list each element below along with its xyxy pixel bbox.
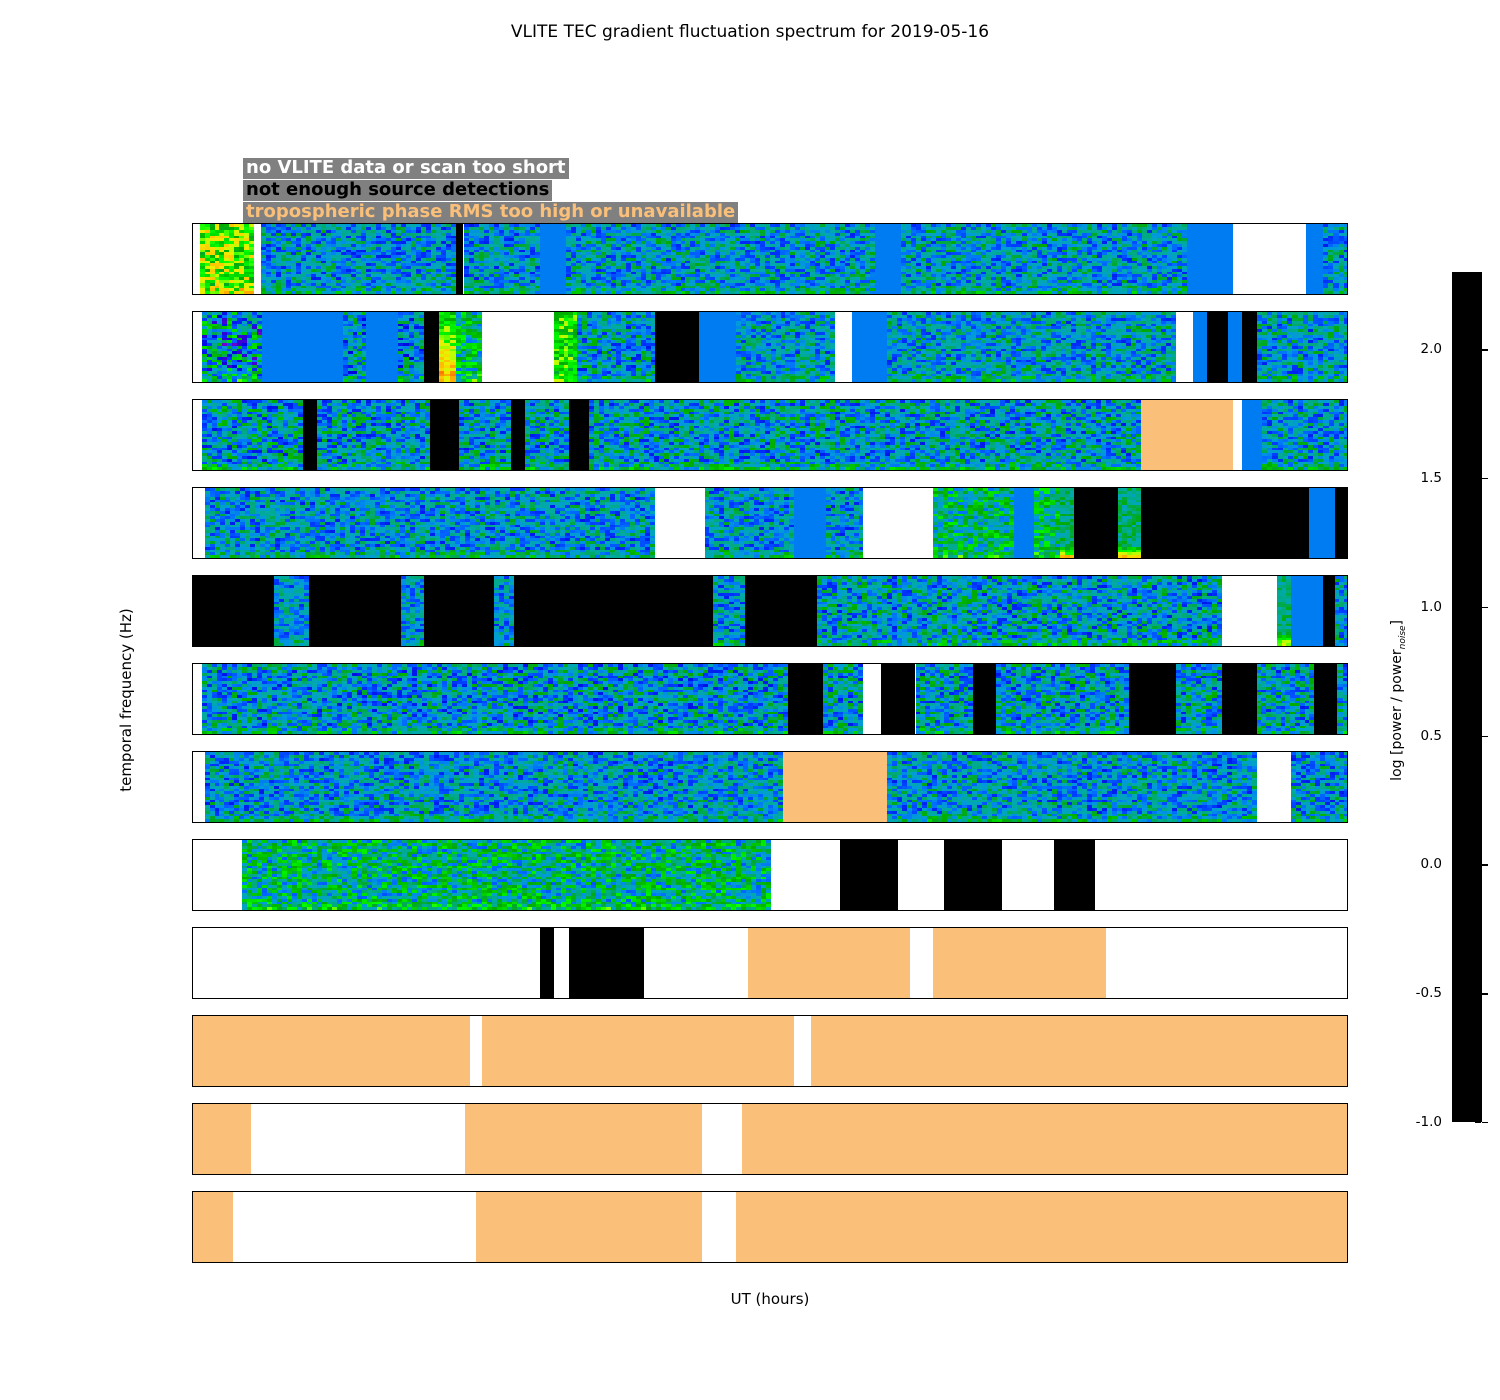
segment-no-data (1002, 840, 1054, 910)
colorbar-tick-mark-inner (1475, 607, 1481, 608)
segment-uniform-power (366, 312, 398, 382)
legend-item-not-enough-detections: not enough source detections (243, 180, 552, 201)
segment-not-enough-detections (1141, 488, 1309, 558)
colorbar-tick-mark (1482, 478, 1488, 479)
segment-no-data (702, 1104, 742, 1174)
segment-not-enough-detections (1314, 664, 1337, 734)
y-tick-mark (192, 1133, 193, 1134)
y-tick-mark (192, 766, 193, 767)
y-tick-mark (192, 341, 193, 342)
x-tick-mark (193, 1262, 194, 1263)
segment-spectrum-data (736, 312, 834, 382)
segment-not-enough-detections (973, 664, 996, 734)
x-tick-mark (482, 470, 483, 471)
x-tick-mark (1060, 558, 1061, 559)
segment-spectrum-data (205, 752, 783, 822)
segment-no-data (655, 488, 704, 558)
segment-no-data (193, 664, 202, 734)
x-tick-mark (771, 734, 772, 735)
x-tick-mark (193, 294, 194, 295)
colorbar-tick-mark (1482, 349, 1488, 350)
segment-no-data (702, 1192, 737, 1262)
y-tick-mark (192, 810, 193, 811)
colorbar-tick-label: 0.5 (1421, 728, 1442, 744)
colorbar-tick-mark (1482, 1122, 1488, 1123)
spectrogram-panel-4: 0.000.050.100.150.200.258.08.59.09.510.0 (192, 575, 1348, 647)
segment-not-enough-detections (424, 312, 438, 382)
y-tick-mark (192, 253, 193, 254)
segment-no-data (835, 312, 852, 382)
segment-not-enough-detections (1222, 664, 1257, 734)
colorbar-tick-label: 2.0 (1421, 341, 1442, 357)
segment-spectrum-data (205, 488, 656, 558)
colorbar-tick-label: 1.5 (1421, 470, 1442, 486)
x-tick-mark (193, 822, 194, 823)
segment-spectrum-data (1335, 576, 1348, 646)
x-tick-mark (1060, 734, 1061, 735)
segment-not-enough-detections (944, 840, 1002, 910)
colorbar-tick-label: -0.5 (1416, 985, 1442, 1001)
y-tick-mark (192, 414, 193, 415)
segment-no-data (193, 312, 202, 382)
segment-not-enough-detections (788, 664, 823, 734)
x-tick-mark (771, 1086, 772, 1087)
segment-no-data (794, 1016, 811, 1086)
x-tick-mark (193, 646, 194, 647)
segment-spectrum-data (439, 312, 456, 382)
segment-no-data (193, 752, 205, 822)
x-tick-mark (1060, 998, 1061, 999)
y-tick-mark (192, 1074, 193, 1075)
y-tick-mark (192, 957, 193, 958)
segment-spectrum-data (566, 224, 875, 294)
segment-no-data (193, 400, 202, 470)
spectrogram-canvas (193, 840, 1347, 910)
segment-not-enough-detections (655, 312, 698, 382)
segment-spectrum-data (401, 576, 424, 646)
segment-troposphere-bad (742, 1104, 1348, 1174)
segment-uniform-power (540, 224, 566, 294)
x-tick-mark (482, 558, 483, 559)
segment-not-enough-detections (569, 400, 589, 470)
spectrogram-panel-6: 0.000.050.100.150.200.2512.012.513.013.5… (192, 751, 1348, 823)
colorbar-tick-mark-inner (1475, 736, 1481, 737)
x-tick-mark (1060, 294, 1061, 295)
segment-spectrum-data (1323, 224, 1348, 294)
x-tick-mark (771, 294, 772, 295)
segment-spectrum-data (933, 488, 1014, 558)
segment-spectrum-data (1118, 488, 1141, 558)
segment-spectrum-data (996, 664, 1129, 734)
x-tick-mark (193, 734, 194, 735)
colorbar-tick-mark (1482, 736, 1488, 737)
y-tick-mark (192, 238, 193, 239)
segment-spectrum-data (1060, 488, 1074, 558)
segment-not-enough-detections (569, 928, 644, 998)
segment-spectrum-data (525, 400, 568, 470)
y-tick-mark (192, 443, 193, 444)
segment-spectrum-data (459, 400, 511, 470)
y-tick-mark (192, 869, 193, 870)
spectrogram-panel-8: 0.000.050.100.150.200.2516.016.517.017.5… (192, 927, 1348, 999)
y-tick-mark (192, 854, 193, 855)
spectrogram-canvas (193, 1104, 1347, 1174)
x-tick-mark (482, 1262, 483, 1263)
colorbar-tick-mark (1482, 864, 1488, 865)
segment-not-enough-detections (1054, 840, 1094, 910)
segment-spectrum-data (202, 312, 263, 382)
segment-spectrum-data (887, 312, 1176, 382)
y-axis-label: temporal frequency (Hz) (112, 0, 140, 1400)
segment-troposphere-bad (193, 1016, 470, 1086)
segment-not-enough-detections (1323, 576, 1335, 646)
colorbar-tick-mark-inner (1475, 349, 1481, 350)
segment-spectrum-data (901, 224, 1187, 294)
colorbar-tick-mark-inner (1475, 1122, 1481, 1123)
x-tick-mark (771, 1262, 772, 1263)
colorbar-tick-mark-inner (1475, 478, 1481, 479)
y-tick-mark (192, 795, 193, 796)
spectrogram-panel-3: 0.000.050.100.150.200.256.06.57.07.58.0 (192, 487, 1348, 559)
segment-troposphere-bad (933, 928, 1106, 998)
x-tick-mark (771, 470, 772, 471)
y-tick-mark (192, 942, 193, 943)
segment-spectrum-data (261, 224, 456, 294)
segment-no-data (554, 928, 568, 998)
segment-troposphere-bad (482, 1016, 794, 1086)
segment-not-enough-detections (456, 224, 464, 294)
x-tick-mark (482, 910, 483, 911)
spectrogram-canvas (193, 664, 1347, 734)
segment-troposphere-bad (811, 1016, 1348, 1086)
segment-spectrum-data (1257, 312, 1348, 382)
segment-troposphere-bad (465, 1104, 702, 1174)
figure-root: VLITE TEC gradient fluctuation spectrum … (0, 0, 1500, 1400)
spectrogram-panel-10: 0.000.050.100.150.200.2520.020.521.021.5… (192, 1103, 1348, 1175)
segment-uniform-power (1228, 312, 1242, 382)
y-tick-mark (192, 619, 193, 620)
segment-not-enough-detections (193, 576, 274, 646)
segment-uniform-power (699, 312, 737, 382)
segment-no-data (482, 312, 554, 382)
segment-no-data (863, 664, 880, 734)
spectrogram-canvas (193, 928, 1347, 998)
segment-troposphere-bad (476, 1192, 701, 1262)
colorbar-tick-mark-inner (1475, 993, 1481, 994)
y-tick-mark (192, 1118, 193, 1119)
x-tick-mark (1060, 646, 1061, 647)
y-tick-mark (192, 1045, 193, 1046)
spectrogram-panel-2: 0.000.050.100.150.200.254.04.55.05.56.0 (192, 399, 1348, 471)
segment-uniform-power (1014, 488, 1034, 558)
segment-not-enough-detections (514, 576, 713, 646)
segment-no-data (1176, 312, 1193, 382)
segment-no-data (251, 1104, 465, 1174)
x-tick-mark (771, 910, 772, 911)
segment-spectrum-data (713, 576, 745, 646)
colorbar-tick-mark (1482, 993, 1488, 994)
segment-spectrum-data (494, 576, 514, 646)
colorbar-title: log [power / powernoise] (1386, 0, 1410, 1400)
segment-not-enough-detections (430, 400, 459, 470)
segment-spectrum-data (343, 312, 366, 382)
segment-no-data (1233, 224, 1305, 294)
segment-not-enough-detections (745, 576, 817, 646)
segment-no-data (193, 928, 540, 998)
y-tick-mark (192, 883, 193, 884)
spectrogram-panel-0: 0.000.050.100.150.200.250.00.51.01.52.0 (192, 223, 1348, 295)
segment-uniform-power (1193, 312, 1207, 382)
x-tick-mark (771, 558, 772, 559)
segment-spectrum-data (1337, 664, 1348, 734)
page-title: VLITE TEC gradient fluctuation spectrum … (0, 22, 1500, 42)
y-tick-mark (192, 678, 193, 679)
y-tick-mark (192, 898, 193, 899)
segment-troposphere-bad (1141, 400, 1233, 470)
segment-spectrum-data (1277, 576, 1291, 646)
y-tick-mark (192, 267, 193, 268)
segment-uniform-power (1306, 224, 1323, 294)
x-tick-mark (1060, 470, 1061, 471)
segment-no-data (193, 488, 205, 558)
y-tick-mark (192, 517, 193, 518)
y-tick-mark (192, 781, 193, 782)
segment-no-data (470, 1016, 482, 1086)
colorbar-tick-label: 1.0 (1421, 599, 1442, 615)
x-axis-label: UT (hours) (192, 1290, 1348, 1308)
y-tick-mark (192, 546, 193, 547)
x-tick-mark (482, 822, 483, 823)
segment-no-data (1106, 928, 1348, 998)
segment-spectrum-data (1257, 664, 1315, 734)
segment-troposphere-bad (783, 752, 887, 822)
y-tick-mark (192, 1147, 193, 1148)
segment-spectrum-data (1034, 488, 1060, 558)
spectrogram-canvas (193, 488, 1347, 558)
segment-no-data (910, 928, 933, 998)
y-tick-mark (192, 1250, 193, 1251)
segment-no-data (193, 224, 200, 294)
y-tick-mark (192, 1162, 193, 1163)
y-tick-mark (192, 1206, 193, 1207)
segment-not-enough-detections (303, 400, 317, 470)
x-tick-mark (193, 910, 194, 911)
colorbar-tick-label: 0.0 (1421, 856, 1442, 872)
y-tick-mark (192, 1059, 193, 1060)
x-tick-mark (771, 822, 772, 823)
segment-no-data (863, 488, 932, 558)
spectrogram-canvas (193, 312, 1347, 382)
spectrogram-panel-9: 0.000.050.100.150.200.2518.018.519.019.5… (192, 1015, 1348, 1087)
y-tick-mark (192, 1235, 193, 1236)
x-tick-mark (193, 1174, 194, 1175)
x-tick-mark (482, 1086, 483, 1087)
colorbar-tick-mark-inner (1475, 864, 1481, 865)
x-tick-mark (771, 998, 772, 999)
spectrogram-canvas (193, 224, 1347, 294)
segment-not-enough-detections (540, 928, 554, 998)
spectrogram-canvas (193, 400, 1347, 470)
segment-not-enough-detections (1335, 488, 1348, 558)
segment-not-enough-detections (840, 840, 898, 910)
x-tick-mark (482, 294, 483, 295)
spectrogram-panel-1: 0.000.050.100.150.200.252.02.53.03.54.0 (192, 311, 1348, 383)
segment-not-enough-detections (309, 576, 401, 646)
segment-no-data (1233, 400, 1242, 470)
segment-no-data (1095, 840, 1348, 910)
segment-spectrum-data (577, 312, 655, 382)
segment-spectrum-data (202, 664, 789, 734)
segment-spectrum-data (705, 488, 795, 558)
y-tick-mark (192, 1030, 193, 1031)
y-tick-mark (192, 282, 193, 283)
y-tick-mark (192, 722, 193, 723)
segment-spectrum-data (398, 312, 424, 382)
colorbar-tick-label: -1.0 (1416, 1114, 1442, 1130)
x-tick-mark (771, 1174, 772, 1175)
x-tick-mark (1060, 910, 1061, 911)
segment-spectrum-data (456, 312, 482, 382)
segment-not-enough-detections (511, 400, 525, 470)
segment-troposphere-bad (748, 928, 910, 998)
segment-spectrum-data (202, 400, 303, 470)
segment-not-enough-detections (1129, 664, 1175, 734)
segment-no-data (1222, 576, 1277, 646)
spectrogram-panel-7: 0.000.050.100.150.200.2514.014.515.015.5… (192, 839, 1348, 911)
segment-not-enough-detections (1207, 312, 1227, 382)
y-tick-mark (192, 634, 193, 635)
spectrogram-panel-5: 0.000.050.100.150.200.2510.010.511.011.5… (192, 663, 1348, 735)
spectrogram-canvas (193, 1192, 1347, 1262)
y-tick-mark (192, 693, 193, 694)
y-tick-mark (192, 458, 193, 459)
y-tick-mark (192, 707, 193, 708)
segment-spectrum-data (1291, 752, 1348, 822)
segment-uniform-power (1187, 224, 1233, 294)
legend: no VLITE data or scan too short not enou… (243, 158, 738, 224)
segment-spectrum-data (817, 576, 1222, 646)
segment-not-enough-detections (1242, 312, 1256, 382)
y-tick-mark (192, 429, 193, 430)
segment-uniform-power (1291, 576, 1323, 646)
x-tick-mark (193, 1086, 194, 1087)
x-tick-mark (193, 382, 194, 383)
segment-uniform-power (852, 312, 887, 382)
legend-item-tropospheric-rms: tropospheric phase RMS too high or unava… (243, 202, 738, 223)
x-tick-mark (1060, 822, 1061, 823)
y-tick-mark (192, 971, 193, 972)
segment-not-enough-detections (881, 664, 916, 734)
x-tick-mark (193, 998, 194, 999)
segment-uniform-power (1242, 400, 1262, 470)
segment-spectrum-data (1262, 400, 1348, 470)
spectrogram-canvas (193, 752, 1347, 822)
segment-no-data (898, 840, 944, 910)
y-tick-mark (192, 531, 193, 532)
segment-no-data (644, 928, 748, 998)
x-tick-mark (482, 382, 483, 383)
segment-troposphere-bad (193, 1104, 251, 1174)
segment-troposphere-bad (193, 1192, 233, 1262)
segment-spectrum-data (554, 312, 577, 382)
y-tick-mark (192, 1221, 193, 1222)
segment-spectrum-data (200, 224, 254, 294)
y-tick-mark (192, 590, 193, 591)
segment-uniform-power (875, 224, 901, 294)
segment-uniform-power (794, 488, 826, 558)
y-tick-mark (192, 605, 193, 606)
x-tick-mark (1060, 382, 1061, 383)
x-tick-mark (482, 1174, 483, 1175)
y-axis-label-text: temporal frequency (Hz) (117, 608, 135, 792)
y-tick-mark (192, 502, 193, 503)
colorbar-over-ticks (1453, 273, 1481, 287)
segment-troposphere-bad (736, 1192, 1348, 1262)
segment-spectrum-data (242, 840, 771, 910)
segment-no-data (193, 840, 242, 910)
x-tick-mark (1060, 1174, 1061, 1175)
segment-not-enough-detections (424, 576, 493, 646)
segment-no-data (254, 224, 262, 294)
segment-spectrum-data (589, 400, 1141, 470)
y-tick-mark (192, 326, 193, 327)
spectrogram-canvas (193, 1016, 1347, 1086)
colorbar (1452, 272, 1482, 1122)
x-tick-mark (771, 382, 772, 383)
spectrogram-canvas (193, 576, 1347, 646)
x-tick-mark (1060, 1086, 1061, 1087)
segment-no-data (771, 840, 840, 910)
segment-spectrum-data (823, 664, 863, 734)
y-tick-mark (192, 986, 193, 987)
colorbar-tick-mark (1482, 607, 1488, 608)
segment-spectrum-data (464, 224, 540, 294)
segment-spectrum-data (274, 576, 309, 646)
x-tick-mark (193, 558, 194, 559)
y-tick-mark (192, 370, 193, 371)
spectrogram-panel-11: 0.000.050.100.150.200.2522.022.523.023.5… (192, 1191, 1348, 1263)
segment-spectrum-data (887, 752, 1257, 822)
colorbar-title-text: log [power / powernoise] (1389, 620, 1408, 781)
x-tick-mark (193, 470, 194, 471)
segment-spectrum-data (317, 400, 430, 470)
x-tick-mark (482, 734, 483, 735)
x-tick-mark (482, 998, 483, 999)
y-tick-mark (192, 355, 193, 356)
segment-spectrum-data (916, 664, 974, 734)
x-tick-mark (771, 646, 772, 647)
x-tick-mark (1060, 1262, 1061, 1263)
segment-no-data (1257, 752, 1292, 822)
x-tick-mark (482, 646, 483, 647)
legend-item-no-data: no VLITE data or scan too short (243, 158, 569, 179)
segment-uniform-power (1309, 488, 1335, 558)
segment-not-enough-detections (1074, 488, 1117, 558)
segment-spectrum-data (1176, 664, 1222, 734)
segment-uniform-power (262, 312, 343, 382)
segment-no-data (233, 1192, 476, 1262)
segment-spectrum-data (826, 488, 864, 558)
